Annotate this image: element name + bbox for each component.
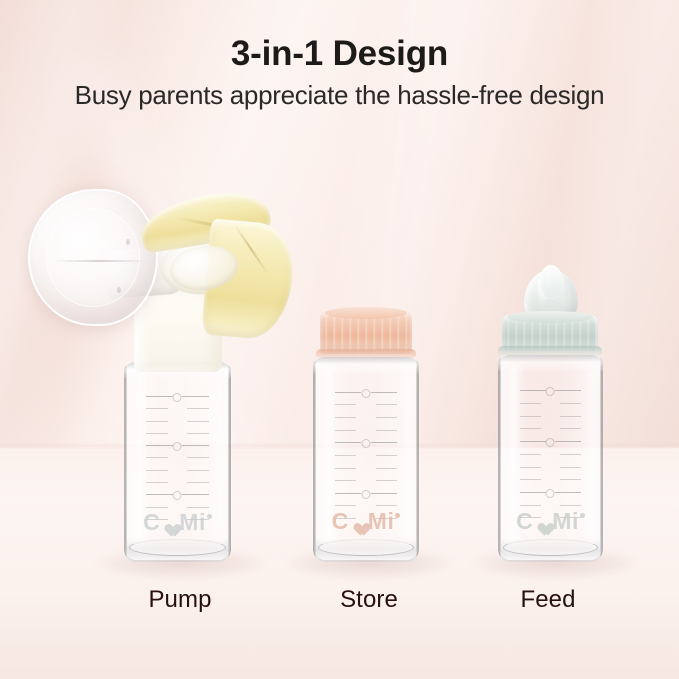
feed-collar-top (507, 311, 593, 323)
store-bottle-base-rim (318, 539, 413, 556)
brand-letter-c: C (516, 508, 533, 534)
brand-logo: CMi (498, 510, 603, 533)
scale-tick (146, 482, 208, 483)
scale-tick (146, 421, 208, 422)
scale-tick (335, 404, 396, 405)
brand-letters-mi: Mi (552, 508, 579, 534)
pump-flange-mark-upper (126, 239, 130, 245)
scale-tick (146, 396, 208, 397)
pump-measurement-scale (146, 396, 208, 520)
brand-dot-icon (207, 514, 212, 519)
brand-letter-c: C (332, 508, 349, 534)
brand-letter-c: C (143, 509, 160, 535)
scale-tick (146, 507, 208, 508)
brand-logo: CMi (313, 510, 419, 533)
store-bottle: CMi (313, 357, 419, 562)
scale-tick (520, 505, 581, 506)
scale-tick-dot (361, 389, 370, 398)
store-measurement-scale (335, 392, 396, 519)
scale-tick-dot (546, 387, 555, 396)
feed-bottle: CMi (498, 355, 603, 562)
scale-tick (146, 470, 208, 471)
scale-tick-dot (173, 491, 182, 500)
scale-tick-dot (546, 489, 555, 498)
scale-tick (520, 441, 581, 442)
feed-measurement-scale (520, 390, 581, 518)
scale-tick-dot (361, 439, 370, 448)
feed-nipple-tip-highlight (546, 269, 551, 290)
scale-tick (520, 467, 581, 468)
heart-icon (534, 516, 551, 531)
scale-tick-dot (173, 442, 182, 451)
scale-tick (146, 408, 208, 409)
scale-tick (146, 445, 208, 446)
scale-tick (520, 403, 581, 404)
scale-tick (520, 390, 581, 391)
scale-tick (335, 480, 396, 481)
pump-bottle-base-rim (129, 539, 225, 556)
brand-dot-icon (580, 513, 585, 518)
scale-tick (335, 493, 396, 494)
scale-tick (146, 433, 208, 434)
product-photo-scene: 3-in-1 Design Busy parents appreciate th… (0, 0, 679, 679)
brand-letters-mi: Mi (368, 508, 395, 534)
scale-tick (335, 417, 396, 418)
scale-tick (335, 442, 396, 443)
pump-flange-mark-lower (117, 287, 121, 293)
scale-tick (335, 455, 396, 456)
scale-tick (146, 457, 208, 458)
heart-icon (161, 517, 178, 532)
product-label-pump: Pump (100, 586, 260, 614)
pump-flange-inner (46, 208, 139, 306)
feed-nipple-tip (538, 265, 564, 299)
scale-tick (146, 494, 208, 495)
store-cap-top (325, 307, 408, 319)
scale-tick-dot (173, 393, 182, 402)
pump-flange-seam (53, 260, 149, 262)
feed-bottle-base-rim (503, 539, 598, 556)
scale-tick-dot (546, 438, 555, 447)
brand-letters-mi: Mi (179, 509, 206, 535)
store-cap[interactable] (320, 311, 412, 354)
brand-logo: CMi (124, 511, 231, 534)
scale-tick-dot (361, 490, 370, 499)
product-group: CMi (0, 0, 679, 679)
pump-flange (28, 189, 158, 326)
heart-icon (350, 516, 367, 531)
pump-bottle: CMi (124, 362, 231, 562)
scale-tick (335, 468, 396, 469)
scale-tick (520, 428, 581, 429)
scale-tick (335, 392, 396, 393)
brand-dot-icon (395, 513, 400, 518)
scale-tick (520, 479, 581, 480)
scale-tick (520, 492, 581, 493)
scale-tick (335, 505, 396, 506)
scale-tick (335, 430, 396, 431)
product-label-feed: Feed (468, 586, 628, 614)
scale-tick (520, 416, 581, 417)
product-label-store: Store (289, 586, 449, 614)
scale-tick (520, 454, 581, 455)
